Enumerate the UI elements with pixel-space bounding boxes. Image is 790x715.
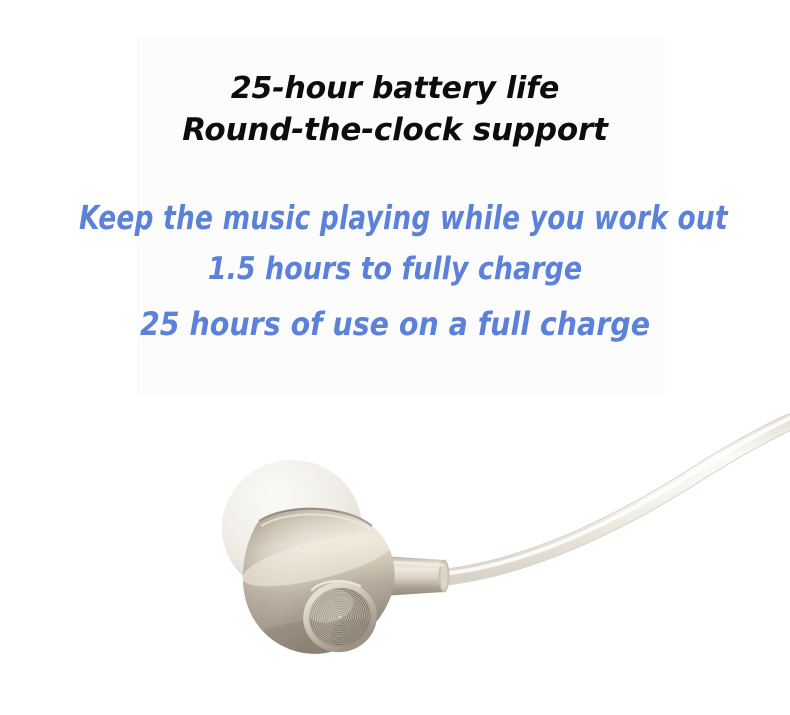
subline-charge-time: 1.5 hours to fully charge: [51, 251, 738, 287]
earphone-product-image: [0, 400, 790, 715]
subline-work-out: Keep the music playing while you work ou…: [79, 198, 711, 237]
headline-line-2: Round-the-clock support: [0, 112, 790, 148]
earphone-illustration: [0, 400, 790, 715]
subline-usage-time: 25 hours of use on a full charge: [43, 305, 746, 343]
headline-line-1: 25-hour battery life: [0, 71, 790, 106]
promo-banner: 25-hour battery life Round-the-clock sup…: [0, 0, 790, 715]
